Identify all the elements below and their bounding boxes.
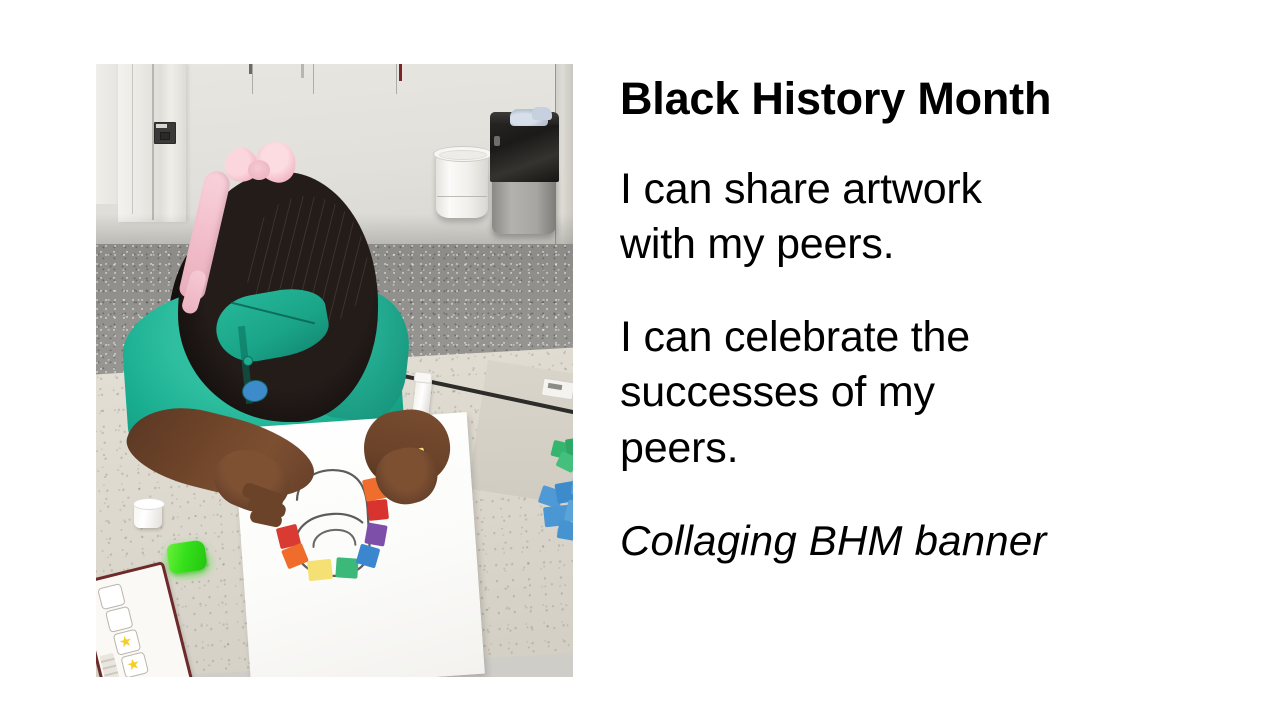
wall-hanging-item [249, 64, 252, 74]
pink-bow-knot [248, 160, 270, 180]
hanging-string-icon [313, 64, 314, 94]
blue-paper-towels [532, 107, 552, 120]
hanging-string-icon [396, 64, 397, 94]
objective-one-line: I can share artwork [620, 162, 1200, 217]
slide-text-panel: Black History Month I can share artwork … [620, 74, 1200, 566]
doorway-gap [96, 64, 120, 204]
objective-two-line: successes of my [620, 365, 1200, 420]
shirt-button [243, 356, 253, 366]
objective-two-line: peers. [620, 421, 1200, 476]
objective-one-line: with my peers. [620, 217, 1200, 272]
objective-one: I can share artwork with my peers. [620, 162, 1200, 272]
classroom-photo: ★ ★ [96, 64, 573, 677]
collage-tile-yellow [307, 559, 333, 581]
socket-switch [156, 124, 167, 128]
white-bin-band [437, 196, 487, 197]
socket-holes [160, 132, 170, 140]
white-bin-inner-rim [439, 150, 487, 160]
green-translucent-container [166, 540, 208, 575]
wall-hanging-item [399, 64, 402, 81]
token-slot [97, 583, 126, 610]
slide-canvas: ★ ★ Black History Month I can share artw… [0, 0, 1280, 720]
hanging-string-icon [252, 64, 253, 94]
token-slot [105, 606, 134, 633]
glue-stick-cap [413, 371, 432, 384]
bin-handle [494, 136, 500, 146]
page-title: Black History Month [620, 74, 1200, 124]
glue-pot-lid [133, 498, 165, 510]
collage-tile-purple [364, 522, 387, 546]
pillar-seam [132, 64, 133, 214]
token-card-strip [100, 653, 124, 677]
collage-tile-red [367, 499, 389, 521]
objective-two: I can celebrate the successes of my peer… [620, 310, 1200, 475]
wall-hanging-item [301, 64, 304, 78]
objective-two-line: I can celebrate the [620, 310, 1200, 365]
activity-caption: Collaging BHM banner [620, 516, 1200, 566]
